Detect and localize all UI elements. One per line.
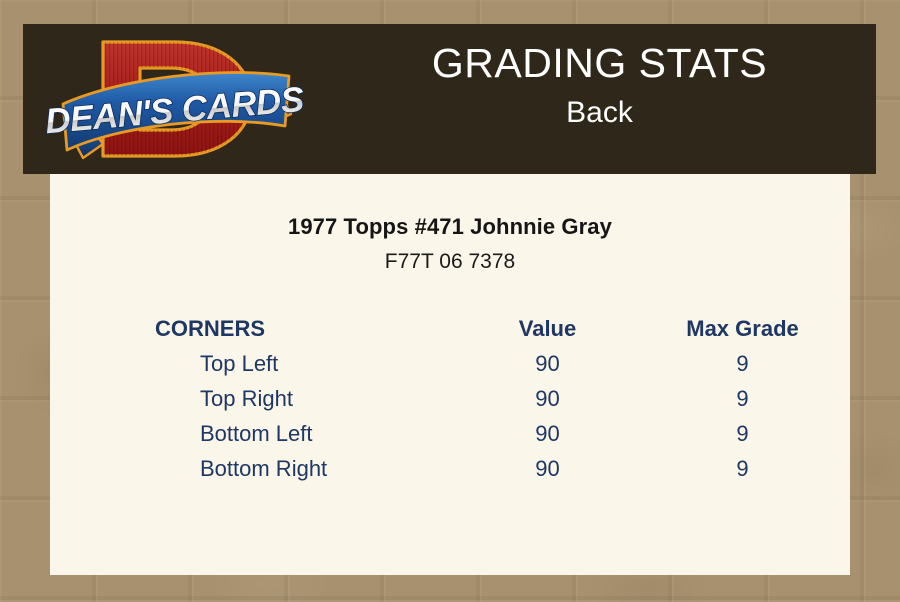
row-label: Top Right xyxy=(50,381,460,416)
column-header-max-grade: Max Grade xyxy=(635,311,850,346)
column-header-value: Value xyxy=(460,311,635,346)
table-row: Top Right 90 9 xyxy=(50,381,850,416)
card-title: 1977 Topps #471 Johnnie Gray xyxy=(50,213,850,241)
column-header-corners: CORNERS xyxy=(50,311,460,346)
header-bar: DEAN'S CARDS GRADING STATS Back xyxy=(23,24,876,174)
deans-cards-logo[interactable]: DEAN'S CARDS xyxy=(45,26,305,172)
page-title: GRADING STATS xyxy=(323,36,876,90)
header-text-block: GRADING STATS Back xyxy=(323,36,876,134)
table-row: Bottom Right 90 9 xyxy=(50,451,850,486)
content-panel: 1977 Topps #471 Johnnie Gray F77T 06 737… xyxy=(50,174,850,575)
row-value: 90 xyxy=(460,381,635,416)
row-label: Bottom Left xyxy=(50,416,460,451)
row-max-grade: 9 xyxy=(635,416,850,451)
row-value: 90 xyxy=(460,451,635,486)
table-header-row: CORNERS Value Max Grade xyxy=(50,311,850,346)
row-max-grade: 9 xyxy=(635,451,850,486)
row-max-grade: 9 xyxy=(635,381,850,416)
row-value: 90 xyxy=(460,416,635,451)
card-serial-number: F77T 06 7378 xyxy=(50,248,850,275)
grading-stats-table: CORNERS Value Max Grade Top Left 90 9 To… xyxy=(50,311,850,486)
row-label: Bottom Right xyxy=(50,451,460,486)
row-value: 90 xyxy=(460,346,635,381)
table-row: Bottom Left 90 9 xyxy=(50,416,850,451)
page-subtitle: Back xyxy=(323,92,876,134)
row-max-grade: 9 xyxy=(635,346,850,381)
row-label: Top Left xyxy=(50,346,460,381)
table-row: Top Left 90 9 xyxy=(50,346,850,381)
